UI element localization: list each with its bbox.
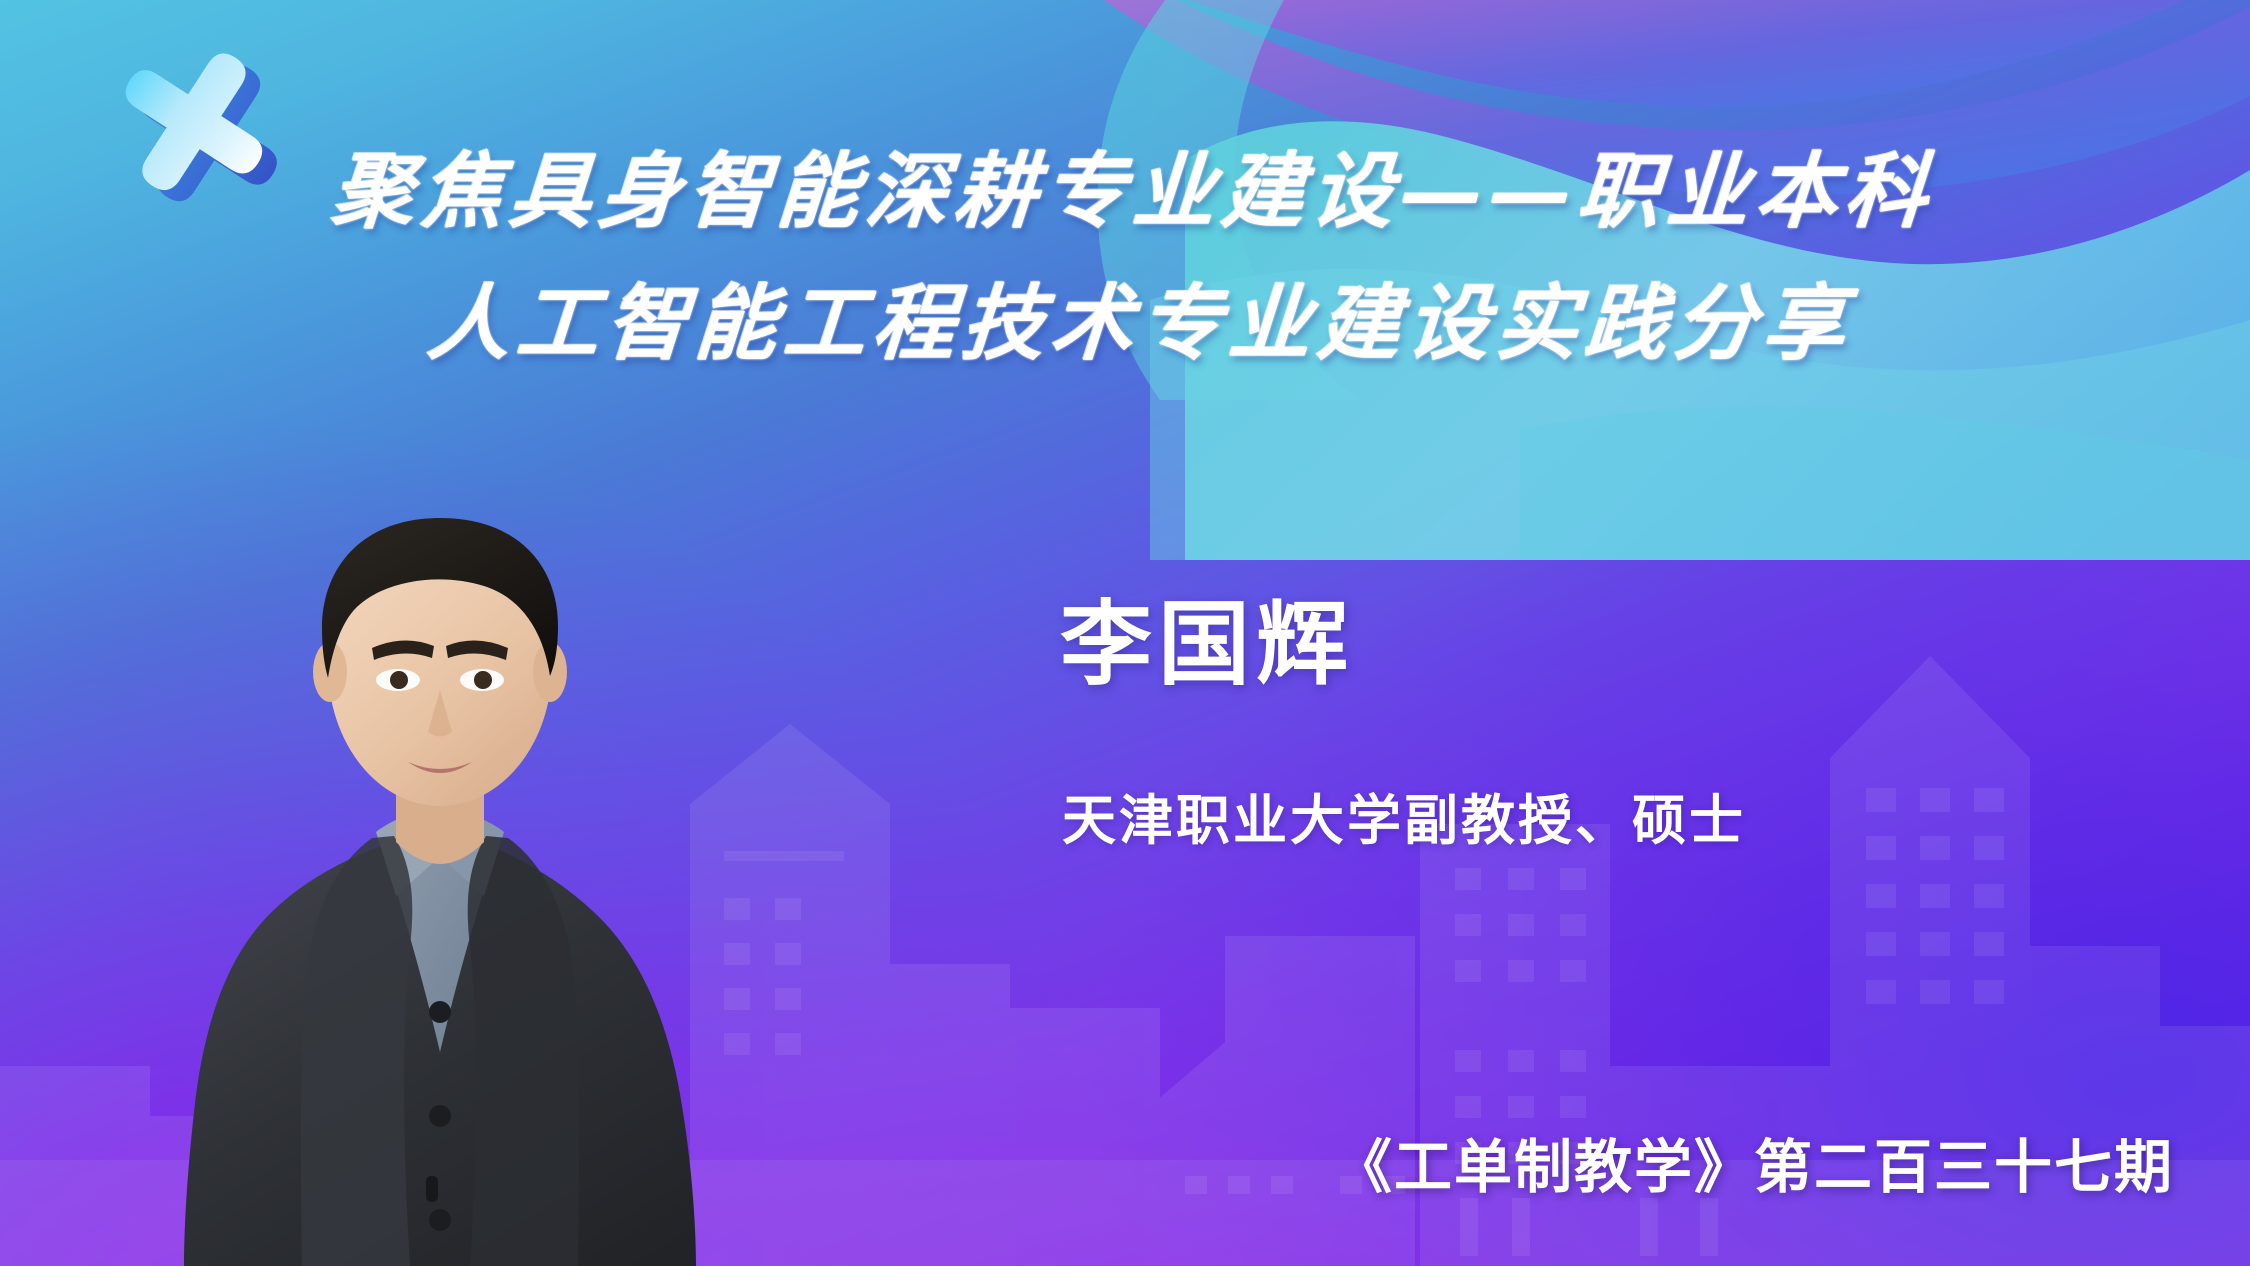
poster-title: 聚焦具身智能深耕专业建设——职业本科 人工智能工程技术专业建设实践分享	[0, 126, 2250, 390]
series-label: 《工单制教学》第二百三十七期	[1334, 1120, 2174, 1204]
title-line-1: 聚焦具身智能深耕专业建设——职业本科	[0, 126, 2250, 258]
title-line-2: 人工智能工程技术专业建设实践分享	[0, 258, 2250, 390]
lapel-mic	[426, 1176, 438, 1202]
speaker-affiliation: 天津职业大学副教授、硕士	[1062, 776, 1746, 855]
cardigan-button	[429, 1105, 451, 1127]
cardigan-button	[429, 1209, 451, 1231]
speaker-pupil	[390, 671, 408, 689]
speaker-name: 李国辉	[1060, 570, 1354, 703]
poster-canvas: 聚焦具身智能深耕专业建设——职业本科 人工智能工程技术专业建设实践分享 李国辉 …	[0, 0, 2250, 1266]
cardigan-button	[429, 1001, 451, 1023]
speaker-photo	[110, 476, 770, 1266]
speaker-pupil	[474, 671, 492, 689]
